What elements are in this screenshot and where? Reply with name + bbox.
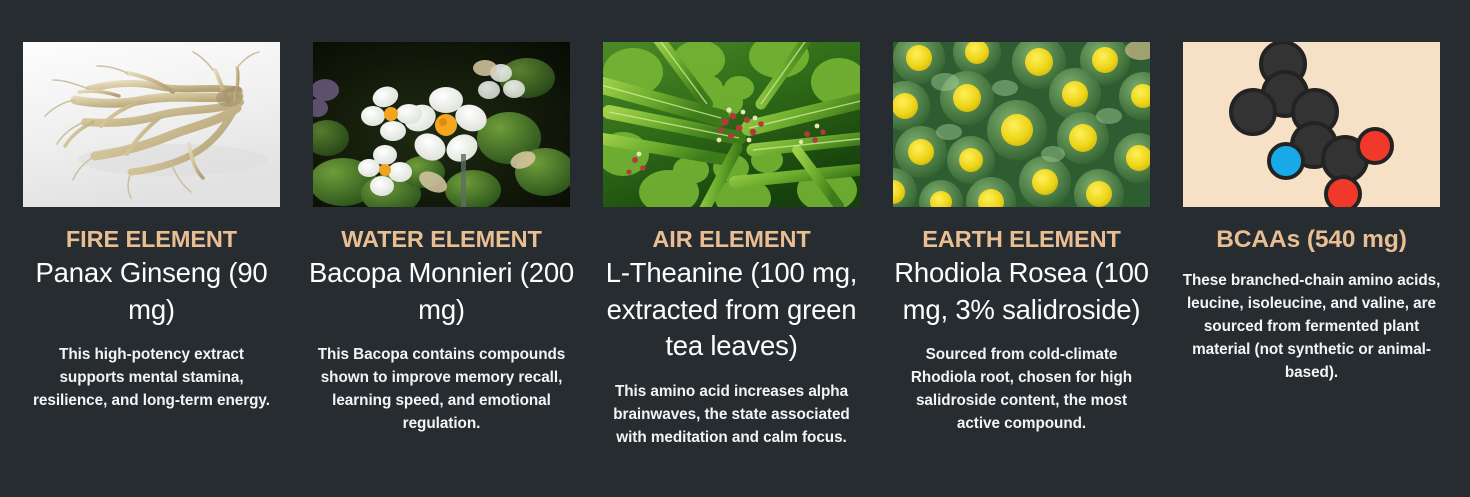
ingredient-card-fire: FIRE ELEMENT Panax Ginseng (90 mg) This … <box>23 42 280 450</box>
card-description: This amino acid increases alpha brainwav… <box>608 381 856 450</box>
card-title: Panax Ginseng (90 mg) <box>19 255 285 328</box>
bacopa-monnieri-flower-photo <box>313 42 570 207</box>
card-title: Rhodiola Rosea (100 mg, 3% salidroside) <box>889 255 1155 328</box>
card-description: These branched-chain amino acids, leucin… <box>1181 270 1443 385</box>
card-eyebrow: BCAAs (540 mg) <box>1183 226 1440 253</box>
card-description: Sourced from cold-climate Rhodiola root,… <box>898 344 1146 436</box>
card-eyebrow: EARTH ELEMENT <box>893 226 1150 252</box>
green-tea-illustration <box>603 42 860 207</box>
panax-ginseng-root-photo <box>23 42 280 207</box>
rhodiola-rosea-flowers-photo <box>893 42 1150 207</box>
card-title: L-Theanine (100 mg, extracted from green… <box>599 255 865 365</box>
ingredient-card-air: AIR ELEMENT L-Theanine (100 mg, extracte… <box>603 42 860 450</box>
rhodiola-illustration <box>893 42 1150 207</box>
molecule-illustration <box>1183 42 1440 207</box>
card-eyebrow: AIR ELEMENT <box>603 226 860 252</box>
ingredient-card-earth: EARTH ELEMENT Rhodiola Rosea (100 mg, 3%… <box>893 42 1150 450</box>
green-tea-leaves-photo <box>603 42 860 207</box>
card-eyebrow: FIRE ELEMENT <box>23 226 280 252</box>
bcaa-molecule-diagram <box>1183 42 1440 207</box>
card-eyebrow: WATER ELEMENT <box>313 226 570 252</box>
ingredient-card-bcaas: BCAAs (540 mg) These branched-chain amin… <box>1183 42 1440 450</box>
ginseng-illustration <box>23 42 280 207</box>
ingredient-card-water: WATER ELEMENT Bacopa Monnieri (200 mg) T… <box>313 42 570 450</box>
bacopa-illustration <box>313 42 570 207</box>
card-description: This Bacopa contains compounds shown to … <box>318 344 566 436</box>
ingredient-card-grid: FIRE ELEMENT Panax Ginseng (90 mg) This … <box>0 0 1470 497</box>
card-description: This high-potency extract supports menta… <box>28 344 276 413</box>
card-title: Bacopa Monnieri (200 mg) <box>309 255 575 328</box>
